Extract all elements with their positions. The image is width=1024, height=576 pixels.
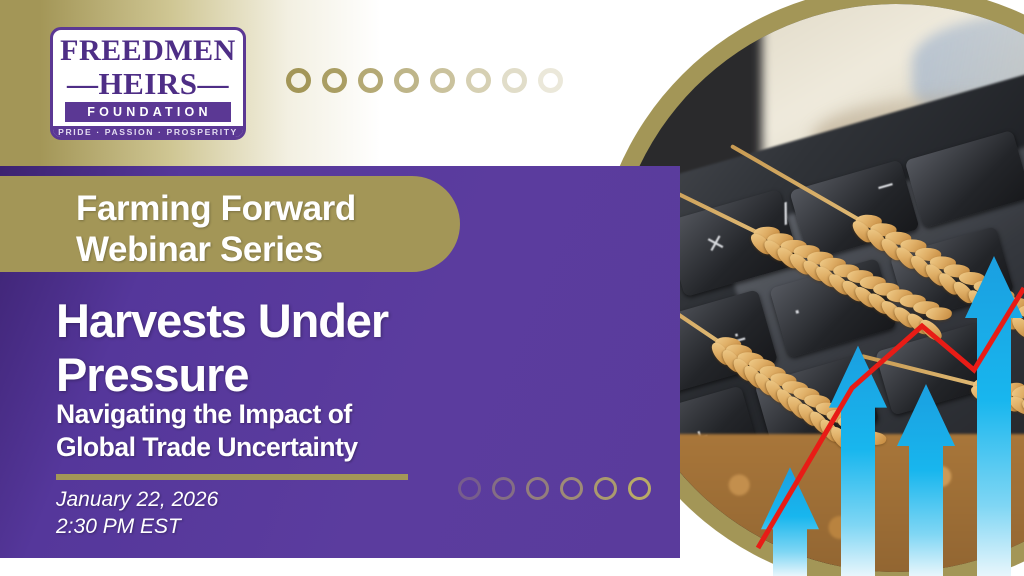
decorative-dot-8 [538, 68, 563, 93]
decorative-dot-4 [394, 68, 419, 93]
subheadline-line1: Navigating the Impact of [56, 398, 496, 431]
logo-line1: FREEDMEN [60, 35, 236, 67]
headline-line2: Pressure [56, 348, 526, 402]
main-headline: Harvests Under Pressure [56, 294, 526, 402]
event-date: January 22, 2026 [56, 486, 456, 513]
decorative-dot-6 [628, 477, 651, 500]
decorative-dot-2 [322, 68, 347, 93]
gold-divider [56, 474, 408, 480]
decorative-dot-2 [492, 477, 515, 500]
decorative-dot-3 [358, 68, 383, 93]
bottom-white-strip [0, 558, 680, 576]
logo-line2: —HEIRS— [67, 67, 229, 100]
series-title: Farming Forward Webinar Series [76, 188, 476, 270]
decorative-dots-top [286, 68, 563, 93]
decorative-dot-3 [526, 477, 549, 500]
decorative-dot-7 [502, 68, 527, 93]
schedule-block: January 22, 2026 2:30 PM EST [56, 486, 456, 540]
decorative-dot-1 [286, 68, 311, 93]
series-title-line2: Webinar Series [76, 229, 476, 270]
webinar-promo-banner: FREEDMEN —HEIRS— FOUNDATION PRIDE · PASS… [0, 0, 1024, 576]
foundation-logo: FREEDMEN —HEIRS— FOUNDATION PRIDE · PASS… [50, 27, 246, 140]
header-band: FREEDMEN —HEIRS— FOUNDATION PRIDE · PASS… [0, 0, 656, 166]
decorative-dot-6 [466, 68, 491, 93]
decorative-dot-5 [594, 477, 617, 500]
logo-tagline-bar: PRIDE · PASSION · PROSPERITY [53, 126, 243, 137]
decorative-dot-5 [430, 68, 455, 93]
logo-tagline: PRIDE · PASSION · PROSPERITY [58, 127, 238, 137]
trend-line-graphic [752, 248, 1024, 576]
series-title-line1: Farming Forward [76, 188, 476, 229]
logo-foundation-bar: FOUNDATION [65, 102, 231, 122]
decorative-dots-bottom [458, 477, 651, 500]
headline-line1: Harvests Under [56, 294, 526, 348]
event-time: 2:30 PM EST [56, 513, 456, 540]
decorative-dot-1 [458, 477, 481, 500]
subheadline: Navigating the Impact of Global Trade Un… [56, 398, 496, 464]
subheadline-line2: Global Trade Uncertainty [56, 431, 496, 464]
content-panel: Farming Forward Webinar Series Harvests … [0, 166, 680, 558]
decorative-dot-4 [560, 477, 583, 500]
